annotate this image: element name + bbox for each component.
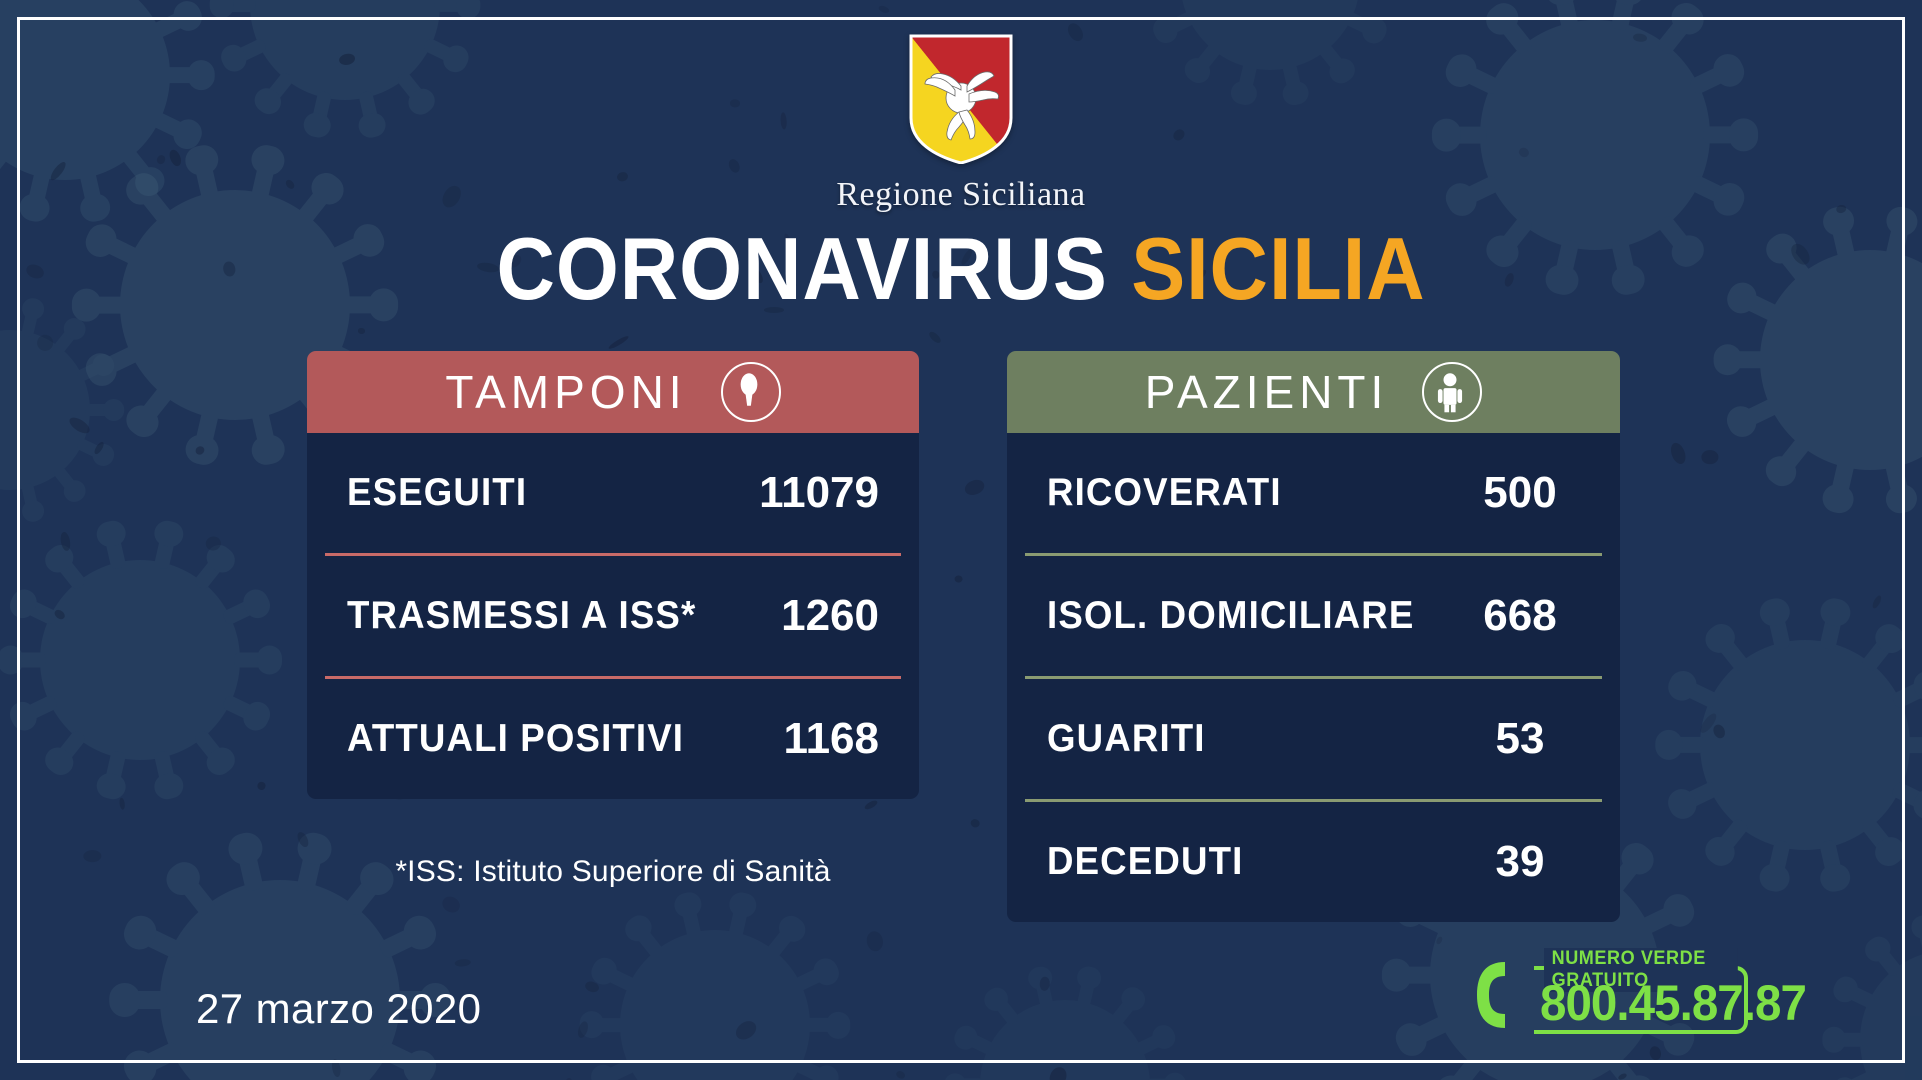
table-row: DECEDUTI 39	[1007, 802, 1620, 922]
region-label: Regione Siciliana	[836, 176, 1085, 214]
panel-tamponi-title: TAMPONI	[445, 365, 686, 419]
title-main: CORONAVIRUS	[496, 219, 1107, 318]
row-label: TRASMESSI A ISS*	[347, 594, 696, 638]
texture-speckle	[954, 575, 963, 583]
texture-speckle	[607, 334, 629, 350]
row-value: 1168	[729, 714, 879, 764]
row-label: DECEDUTI	[1047, 840, 1243, 884]
patient-icon	[1422, 362, 1482, 422]
texture-speckle	[454, 958, 471, 967]
sicilian-trinacria-crest-icon	[909, 34, 1013, 164]
panel-tamponi: TAMPONI ESEGUITI 11079 TRASMESSI A ISS* …	[307, 351, 919, 799]
texture-speckle	[1702, 450, 1719, 464]
texture-speckle	[963, 476, 986, 496]
table-row: ESEGUITI 11079	[307, 433, 919, 553]
row-label: ESEGUITI	[347, 471, 527, 515]
footnote-iss: *ISS: Istituto Superiore di Sanità	[307, 855, 919, 889]
virus-illustration	[1860, 950, 1922, 1080]
hotline-badge[interactable]: NUMERO VERDE GRATUITO 800.45.87.87	[1468, 952, 1748, 1036]
virus-illustration	[40, 560, 240, 760]
texture-speckle	[863, 799, 878, 811]
virus-illustration	[980, 1000, 1150, 1080]
phone-handset-icon	[1472, 958, 1518, 1032]
texture-speckle	[970, 819, 981, 829]
row-value: 668	[1460, 591, 1580, 641]
row-value: 500	[1460, 468, 1580, 518]
panel-tamponi-body: ESEGUITI 11079 TRASMESSI A ISS* 1260 ATT…	[307, 433, 919, 799]
texture-speckle	[878, 5, 890, 15]
report-date: 27 marzo 2020	[196, 985, 481, 1033]
page-title: CORONAVIRUS SICILIA	[77, 225, 1845, 313]
texture-speckle	[1668, 441, 1688, 467]
virus-illustration	[620, 930, 810, 1080]
texture-speckle	[439, 894, 462, 916]
table-row: ATTUALI POSITIVI 1168	[307, 679, 919, 799]
virus-illustration	[160, 880, 400, 1080]
table-row: TRASMESSI A ISS* 1260	[307, 556, 919, 676]
texture-speckle	[865, 930, 884, 952]
texture-speckle	[358, 328, 366, 334]
row-value: 53	[1460, 714, 1580, 764]
panel-pazienti: PAZIENTI RICOVERATI 500 ISOL. DOMICILIAR	[1007, 351, 1620, 922]
region-branding: Regione Siciliana	[0, 34, 1922, 214]
virus-illustration	[1700, 640, 1910, 850]
texture-speckle	[119, 797, 126, 810]
row-label: GUARITI	[1047, 717, 1206, 761]
row-value: 11079	[729, 468, 879, 518]
texture-speckle	[1871, 595, 1883, 610]
table-row: ISOL. DOMICILIARE 668	[1007, 556, 1620, 676]
texture-speckle	[83, 850, 102, 863]
table-row: GUARITI 53	[1007, 679, 1620, 799]
row-label: ATTUALI POSITIVI	[347, 717, 684, 761]
table-row: RICOVERATI 500	[1007, 433, 1620, 553]
row-value: 1260	[729, 591, 879, 641]
panel-tamponi-header: TAMPONI	[307, 351, 919, 433]
title-accent: SICILIA	[1131, 219, 1425, 318]
texture-speckle	[257, 781, 266, 790]
virus-illustration	[0, 330, 90, 490]
panel-pazienti-header: PAZIENTI	[1007, 351, 1620, 433]
row-label: ISOL. DOMICILIARE	[1047, 594, 1414, 638]
texture-speckle	[928, 330, 943, 345]
texture-speckle	[895, 1069, 907, 1080]
infographic-canvas: Regione Siciliana CORONAVIRUS SICILIA TA…	[0, 0, 1922, 1080]
row-value: 39	[1460, 837, 1580, 887]
texture-speckle	[24, 262, 46, 281]
panel-pazienti-title: PAZIENTI	[1145, 365, 1389, 419]
panel-pazienti-body: RICOVERATI 500 ISOL. DOMICILIARE 668 GUA…	[1007, 433, 1620, 922]
texture-speckle	[1648, 1045, 1662, 1061]
hotline-number: 800.45.87.87	[1540, 974, 1806, 1032]
row-label: RICOVERATI	[1047, 471, 1282, 515]
swab-icon	[721, 362, 781, 422]
